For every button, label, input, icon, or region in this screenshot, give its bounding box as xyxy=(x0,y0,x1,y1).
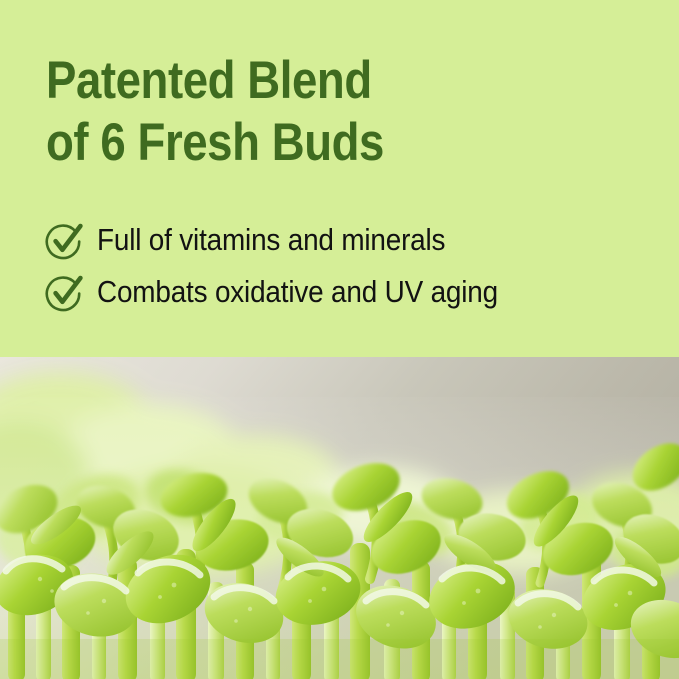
check-circle-icon xyxy=(44,220,84,260)
product-banner: Patented Blend of 6 Fresh Buds Full of v… xyxy=(0,0,679,679)
headline-line-2: of 6 Fresh Buds xyxy=(46,112,562,174)
benefit-label: Combats oxidative and UV aging xyxy=(97,275,498,309)
check-circle-icon xyxy=(44,272,84,312)
headline-line-1: Patented Blend xyxy=(46,50,562,112)
benefit-list: Full of vitamins and minerals Combats ox… xyxy=(44,215,664,319)
list-item: Combats oxidative and UV aging xyxy=(44,267,664,317)
page-title: Patented Blend of 6 Fresh Buds xyxy=(46,50,562,174)
list-item: Full of vitamins and minerals xyxy=(44,215,664,265)
benefit-label: Full of vitamins and minerals xyxy=(97,223,445,257)
microgreens-illustration xyxy=(0,357,679,679)
info-panel: Patented Blend of 6 Fresh Buds Full of v… xyxy=(0,0,679,357)
microgreens-photo xyxy=(0,357,679,679)
